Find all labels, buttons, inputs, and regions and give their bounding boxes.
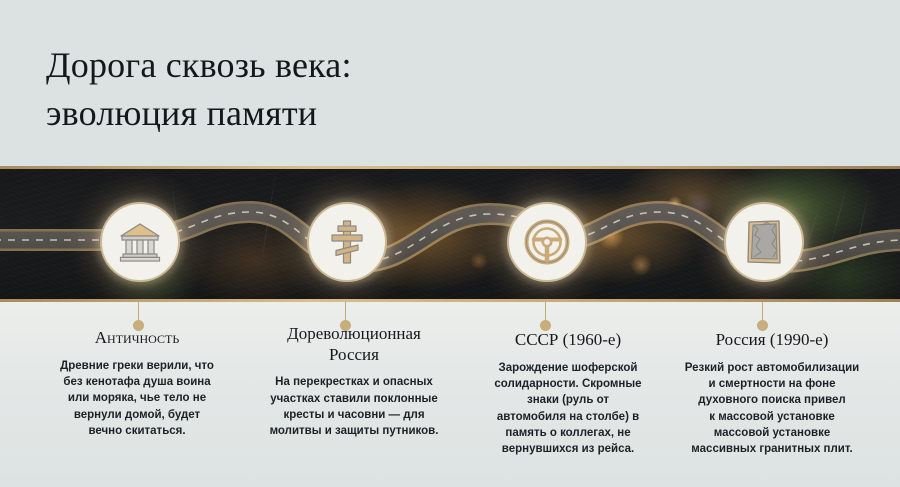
connector-line bbox=[138, 302, 139, 322]
caption-prerevolutionary-russia: Дореволюционная Россия На перекрестках и… bbox=[243, 324, 465, 440]
captions-zone: Античность Древние греки верили, что без… bbox=[0, 302, 900, 487]
caption-body: Резкий рост автомобилизации и смертности… bbox=[654, 360, 890, 458]
caption-body: Древние греки верили, что без кенотафа д… bbox=[28, 358, 246, 440]
node-russia-1990s[interactable] bbox=[724, 202, 804, 282]
greek-temple-icon bbox=[119, 222, 161, 262]
road-band bbox=[0, 166, 900, 302]
caption-body: Зарождение шоферской солидарности. Скром… bbox=[462, 360, 674, 458]
orthodox-cross-icon bbox=[329, 219, 365, 265]
granite-slab-icon bbox=[745, 219, 783, 265]
infographic-root: Дорога сквозь века: эволюция памяти bbox=[0, 0, 900, 487]
caption-heading: Россия (1990-е) bbox=[654, 330, 890, 351]
caption-heading: Античность bbox=[28, 328, 246, 349]
node-prerevolutionary-russia[interactable] bbox=[307, 202, 387, 282]
steering-wheel-icon bbox=[524, 219, 570, 265]
caption-antiquity: Античность Древние греки верили, что без… bbox=[28, 328, 246, 439]
caption-heading: Дореволюционная Россия bbox=[243, 324, 465, 365]
caption-body: На перекрестках и опасных участках стави… bbox=[243, 374, 465, 439]
node-antiquity[interactable] bbox=[100, 202, 180, 282]
caption-heading: СССР (1960-е) bbox=[462, 330, 674, 351]
caption-russia-1990s: Россия (1990-е) Резкий рост автомобилиза… bbox=[654, 330, 890, 458]
page-title: Дорога сквозь века: эволюция памяти bbox=[46, 42, 646, 137]
header-zone: Дорога сквозь века: эволюция памяти bbox=[0, 0, 900, 166]
connector-line bbox=[762, 302, 763, 322]
node-ussr[interactable] bbox=[507, 202, 587, 282]
caption-ussr: СССР (1960-е) Зарождение шоферской солид… bbox=[462, 330, 674, 458]
band-top-border bbox=[0, 166, 900, 169]
connector-line bbox=[345, 302, 346, 322]
connector-line bbox=[545, 302, 546, 322]
